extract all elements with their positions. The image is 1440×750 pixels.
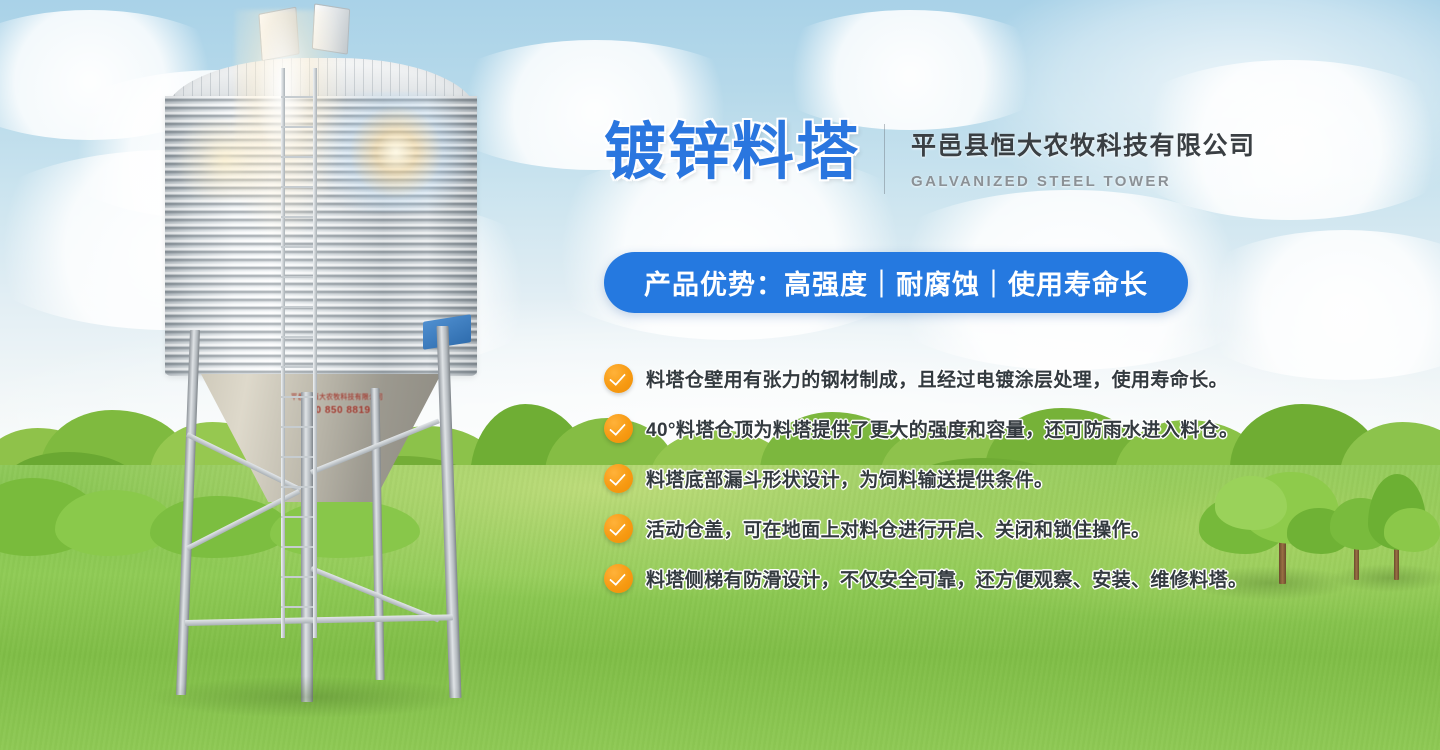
feature-label: 料塔侧梯有防滑设计，不仅安全可靠，还方便观察、安装、维修料塔。 <box>646 565 1247 592</box>
brand-block: 平邑县恒大农牧科技有限公司 GALVANIZED STEEL TOWER <box>911 118 1256 190</box>
feature-list: 料塔仓壁用有张力的钢材制成，且经过电镀涂层处理，使用寿命长。 40°料塔仓顶为料… <box>604 362 1304 612</box>
check-circle-icon <box>604 464 633 493</box>
headline-row: 镀锌料塔 平邑县恒大农牧科技有限公司 GALVANIZED STEEL TOWE… <box>604 118 1256 194</box>
feature-item: 40°料塔仓顶为料塔提供了更大的强度和容量，还可防雨水进入料仓。 <box>604 412 1304 444</box>
banner-stage: 平邑县恒大农牧科技有限公司 400 850 8819 <box>0 0 1440 750</box>
check-circle-icon <box>604 364 633 393</box>
feature-label: 活动仓盖，可在地面上对料仓进行开启、关闭和锁住操作。 <box>646 515 1150 542</box>
feature-item: 料塔仓壁用有张力的钢材制成，且经过电镀涂层处理，使用寿命长。 <box>604 362 1304 394</box>
feature-label: 40°料塔仓顶为料塔提供了更大的强度和容量，还可防雨水进入料仓。 <box>646 415 1239 442</box>
feature-item: 料塔侧梯有防滑设计，不仅安全可靠，还方便观察、安装、维修料塔。 <box>604 562 1304 594</box>
title-divider <box>884 124 885 194</box>
product-advantages-badge: 产品优势：高强度｜耐腐蚀｜使用寿命长 <box>604 252 1188 313</box>
feature-item: 活动仓盖，可在地面上对料仓进行开启、关闭和锁住操作。 <box>604 512 1304 544</box>
feature-label: 料塔底部漏斗形状设计，为饲料输送提供条件。 <box>646 465 1053 492</box>
company-subtitle-en: GALVANIZED STEEL TOWER <box>911 173 1256 190</box>
company-name: 平邑县恒大农牧科技有限公司 <box>911 126 1256 162</box>
product-advantages-text: 产品优势：高强度｜耐腐蚀｜使用寿命长 <box>644 263 1148 302</box>
check-circle-icon <box>604 414 633 443</box>
feature-item: 料塔底部漏斗形状设计，为饲料输送提供条件。 <box>604 462 1304 494</box>
check-circle-icon <box>604 514 633 543</box>
feature-label: 料塔仓壁用有张力的钢材制成，且经过电镀涂层处理，使用寿命长。 <box>646 365 1228 392</box>
check-circle-icon <box>604 564 633 593</box>
banner-content: 镀锌料塔 平邑县恒大农牧科技有限公司 GALVANIZED STEEL TOWE… <box>0 0 1440 750</box>
page-title: 镀锌料塔 <box>604 118 860 188</box>
